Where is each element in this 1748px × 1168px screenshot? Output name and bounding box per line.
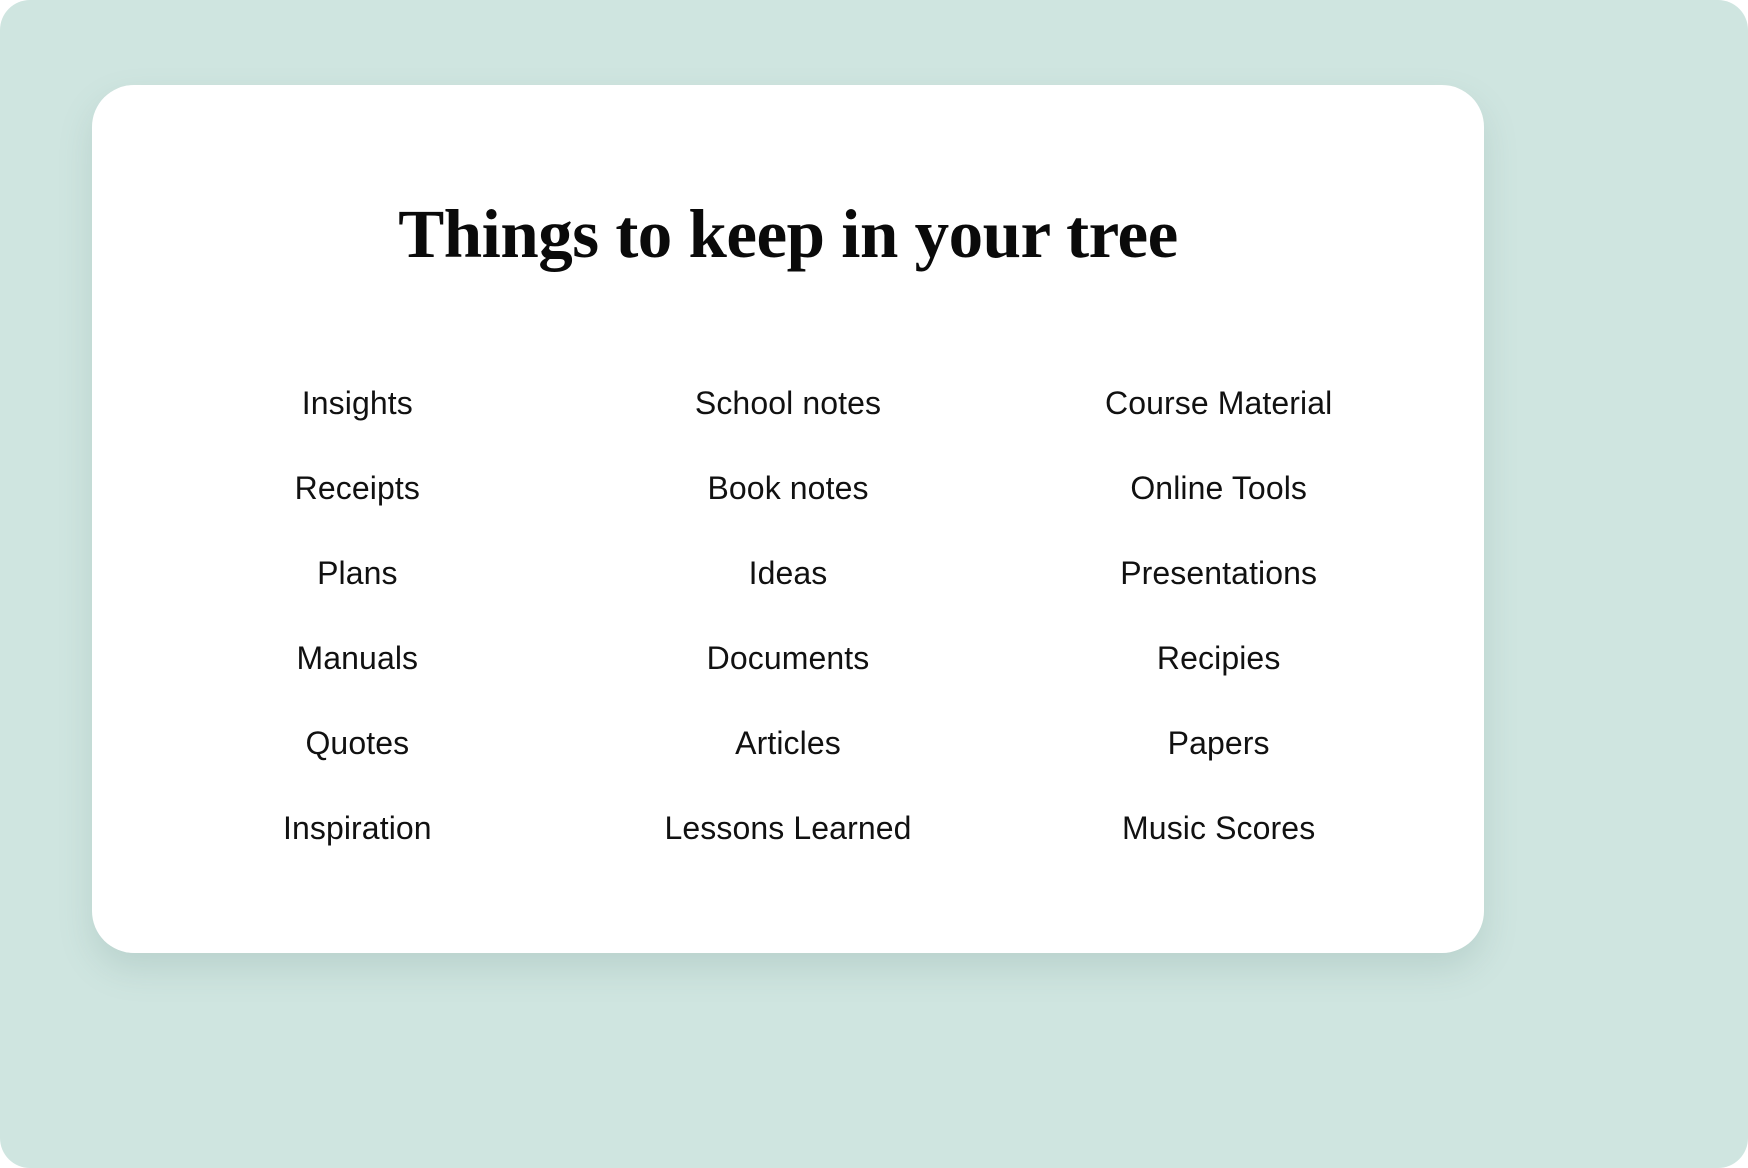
list-item: Ideas bbox=[573, 531, 1004, 616]
column-1: Insights Receipts Plans Manuals Quotes I… bbox=[142, 361, 573, 871]
list-item: Quotes bbox=[142, 701, 573, 786]
list-item: Music Scores bbox=[1003, 786, 1434, 871]
page-root: Things to keep in your tree Insights Rec… bbox=[0, 0, 1748, 1168]
list-item: Inspiration bbox=[142, 786, 573, 871]
list-item: Book notes bbox=[573, 446, 1004, 531]
list-item: Lessons Learned bbox=[573, 786, 1004, 871]
list-item: Documents bbox=[573, 616, 1004, 701]
list-item: Plans bbox=[142, 531, 573, 616]
column-2: School notes Book notes Ideas Documents … bbox=[573, 361, 1004, 871]
list-item: Papers bbox=[1003, 701, 1434, 786]
list-item: Insights bbox=[142, 361, 573, 446]
column-3: Course Material Online Tools Presentatio… bbox=[1003, 361, 1434, 871]
list-item: School notes bbox=[573, 361, 1004, 446]
list-item: Manuals bbox=[142, 616, 573, 701]
page-title: Things to keep in your tree bbox=[92, 197, 1484, 273]
list-item: Articles bbox=[573, 701, 1004, 786]
list-item: Receipts bbox=[142, 446, 573, 531]
list-item: Online Tools bbox=[1003, 446, 1434, 531]
content-card: Things to keep in your tree Insights Rec… bbox=[92, 85, 1484, 953]
list-item: Presentations bbox=[1003, 531, 1434, 616]
list-item: Course Material bbox=[1003, 361, 1434, 446]
items-grid: Insights Receipts Plans Manuals Quotes I… bbox=[142, 361, 1434, 871]
list-item: Recipies bbox=[1003, 616, 1434, 701]
